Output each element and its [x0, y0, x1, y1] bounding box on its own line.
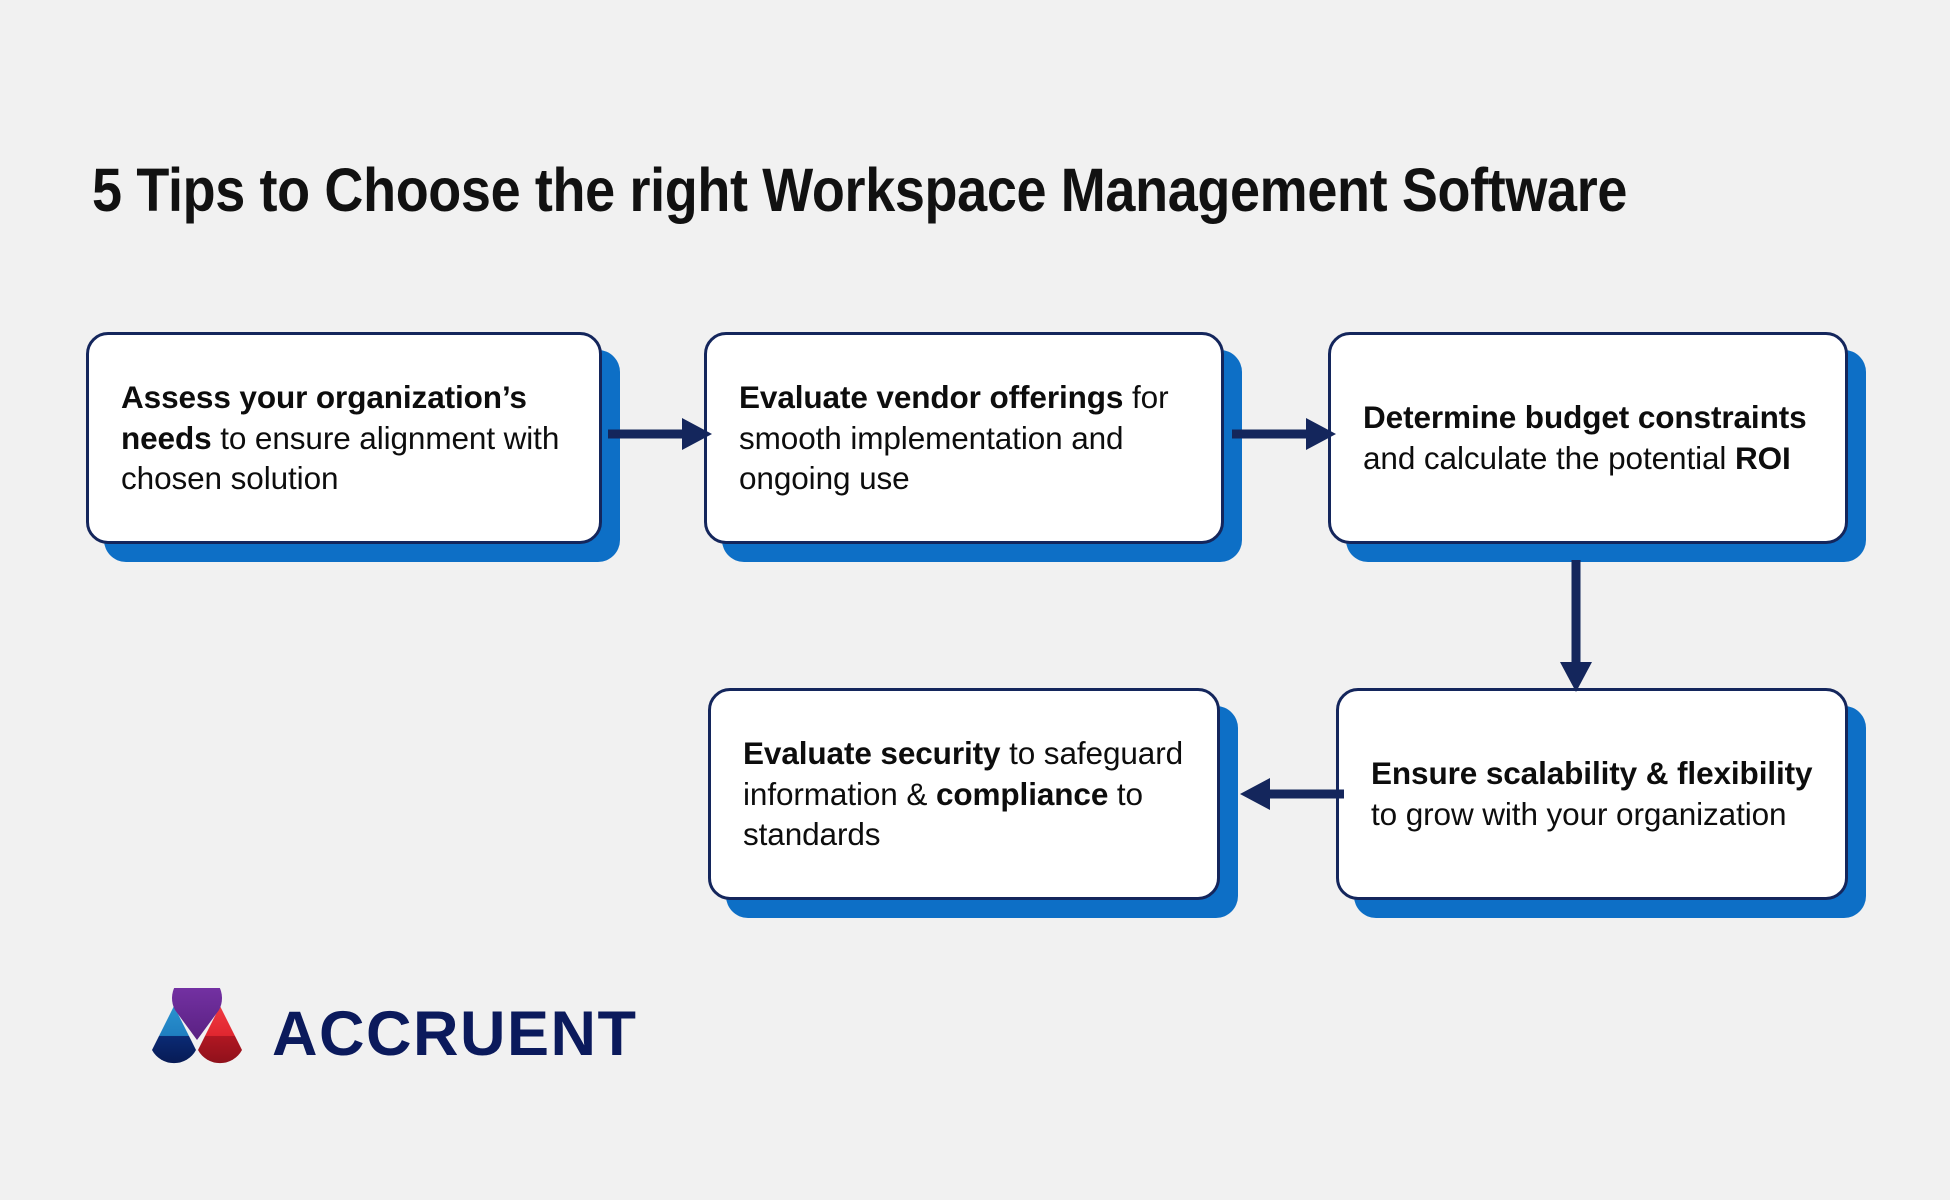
- page-title: 5 Tips to Choose the right Workspace Man…: [92, 157, 1627, 224]
- flow-node-2-text: Evaluate vendor offerings for smooth imp…: [739, 377, 1191, 500]
- flow-node-5-card[interactable]: Evaluate security to safeguard informati…: [708, 688, 1220, 900]
- flow-node-1-text: Assess your organization’s needs to ensu…: [121, 377, 569, 500]
- arrow-down-icon-node3-node4: [1556, 560, 1596, 692]
- flow-node-2-card[interactable]: Evaluate vendor offerings for smooth imp…: [704, 332, 1224, 544]
- flow-node-1[interactable]: Assess your organization’s needs to ensu…: [86, 332, 602, 544]
- flow-node-3-card[interactable]: Determine budget constraints and calcula…: [1328, 332, 1848, 544]
- infographic-canvas: 5 Tips to Choose the right Workspace Man…: [0, 0, 1950, 1200]
- flow-node-3-text: Determine budget constraints and calcula…: [1363, 397, 1815, 479]
- flow-node-1-card[interactable]: Assess your organization’s needs to ensu…: [86, 332, 602, 544]
- accruent-logo[interactable]: ACCRUENT: [146, 988, 637, 1080]
- accruent-logo-mark-icon: [146, 988, 250, 1080]
- arrow-right-icon-node2-node3: [1232, 414, 1336, 454]
- arrow-right-icon-node1-node2: [608, 414, 712, 454]
- flow-node-2[interactable]: Evaluate vendor offerings for smooth imp…: [704, 332, 1224, 544]
- flow-node-5-text: Evaluate security to safeguard informati…: [743, 733, 1187, 856]
- flow-node-4[interactable]: Ensure scalability & flexibility to grow…: [1336, 688, 1848, 900]
- flow-node-5[interactable]: Evaluate security to safeguard informati…: [708, 688, 1220, 900]
- flow-node-4-card[interactable]: Ensure scalability & flexibility to grow…: [1336, 688, 1848, 900]
- accruent-wordmark: ACCRUENT: [272, 1003, 637, 1066]
- flow-node-4-text: Ensure scalability & flexibility to grow…: [1371, 753, 1815, 835]
- arrow-left-icon-node4-node5: [1240, 774, 1344, 814]
- flow-node-3[interactable]: Determine budget constraints and calcula…: [1328, 332, 1848, 544]
